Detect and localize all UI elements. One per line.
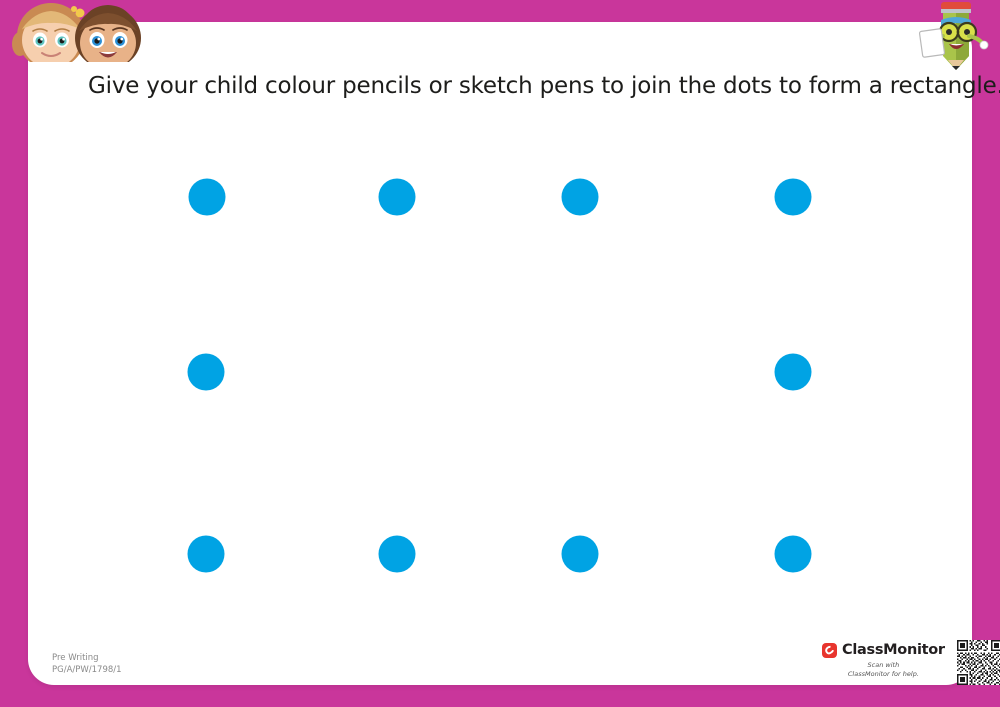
brand-row: ClassMonitor [822, 642, 945, 658]
scan-instruction-line1: Scan with [848, 661, 919, 670]
footer-codes: Pre Writing PG/A/PW/1798/1 [52, 652, 122, 676]
pencil-mascot-icon [915, 0, 997, 76]
brand-block: ClassMonitor Scan with ClassMonitor for … [822, 640, 1000, 685]
scan-instruction-line2: ClassMonitor for help. [848, 670, 919, 679]
kids-illustration [4, 0, 144, 62]
instruction-text: Give your child colour pencils or sketch… [88, 70, 908, 102]
classmonitor-logo-icon [822, 643, 837, 658]
brand-name: ClassMonitor [842, 642, 945, 658]
brand-text-wrap: ClassMonitor Scan with ClassMonitor for … [822, 640, 945, 678]
footer-category: Pre Writing [52, 652, 122, 664]
worksheet-card [28, 22, 972, 685]
qr-code-icon [957, 640, 1000, 685]
worksheet-page: Give your child colour pencils or sketch… [0, 0, 1000, 707]
footer-code: PG/A/PW/1798/1 [52, 664, 122, 676]
scan-instruction: Scan with ClassMonitor for help. [848, 661, 919, 678]
